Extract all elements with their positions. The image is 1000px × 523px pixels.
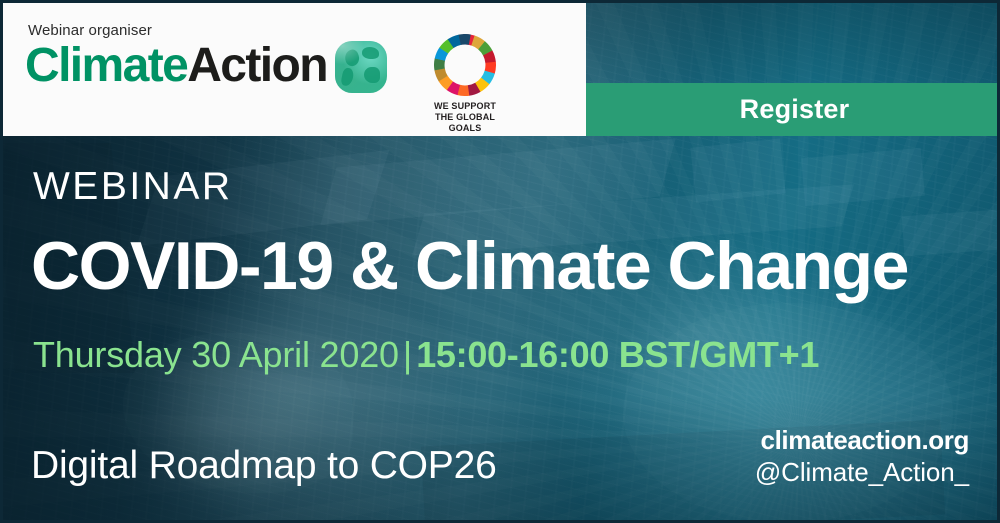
event-subtitle: Digital Roadmap to COP26 [31, 443, 497, 489]
organiser-label: Webinar organiser [28, 22, 152, 39]
event-date: Thursday 30 April 2020 [33, 334, 399, 375]
register-button-label: Register [740, 94, 850, 125]
sdg-support-badge: WE SUPPORT THE GLOBAL GOALS [428, 34, 502, 134]
climate-action-logo[interactable]: ClimateAction [25, 40, 387, 93]
event-time: 15:00-16:00 BST/GMT+1 [416, 334, 819, 375]
page-title: COVID-19 & Climate Change [31, 228, 908, 304]
sdg-text-line2: THE GLOBAL GOALS [428, 112, 502, 134]
twitter-handle[interactable]: @Climate_Action_ [755, 456, 969, 489]
eyebrow-label: WEBINAR [33, 166, 233, 208]
globe-icon [335, 41, 387, 93]
climate-action-wordmark: ClimateAction [25, 40, 327, 92]
datetime-line: Thursday 30 April 2020|15:00-16:00 BST/G… [33, 334, 819, 376]
contact-block: climateaction.org @Climate_Action_ [755, 424, 969, 489]
sdg-support-text: WE SUPPORT THE GLOBAL GOALS [428, 101, 502, 134]
wordmark-action: Action [187, 39, 327, 92]
wordmark-climate: Climate [25, 39, 187, 92]
website-link[interactable]: climateaction.org [755, 424, 969, 456]
date-time-separator: | [399, 334, 416, 375]
sdg-text-line1: WE SUPPORT [428, 101, 502, 112]
sdg-wheel-icon [434, 34, 496, 96]
organiser-panel: Webinar organiser ClimateAction [3, 3, 586, 136]
register-button[interactable]: Register [586, 83, 1000, 136]
webinar-promo-banner: Webinar organiser ClimateAction [0, 0, 1000, 523]
main-content: WEBINAR COVID-19 & Climate Change Thursd… [3, 136, 997, 523]
